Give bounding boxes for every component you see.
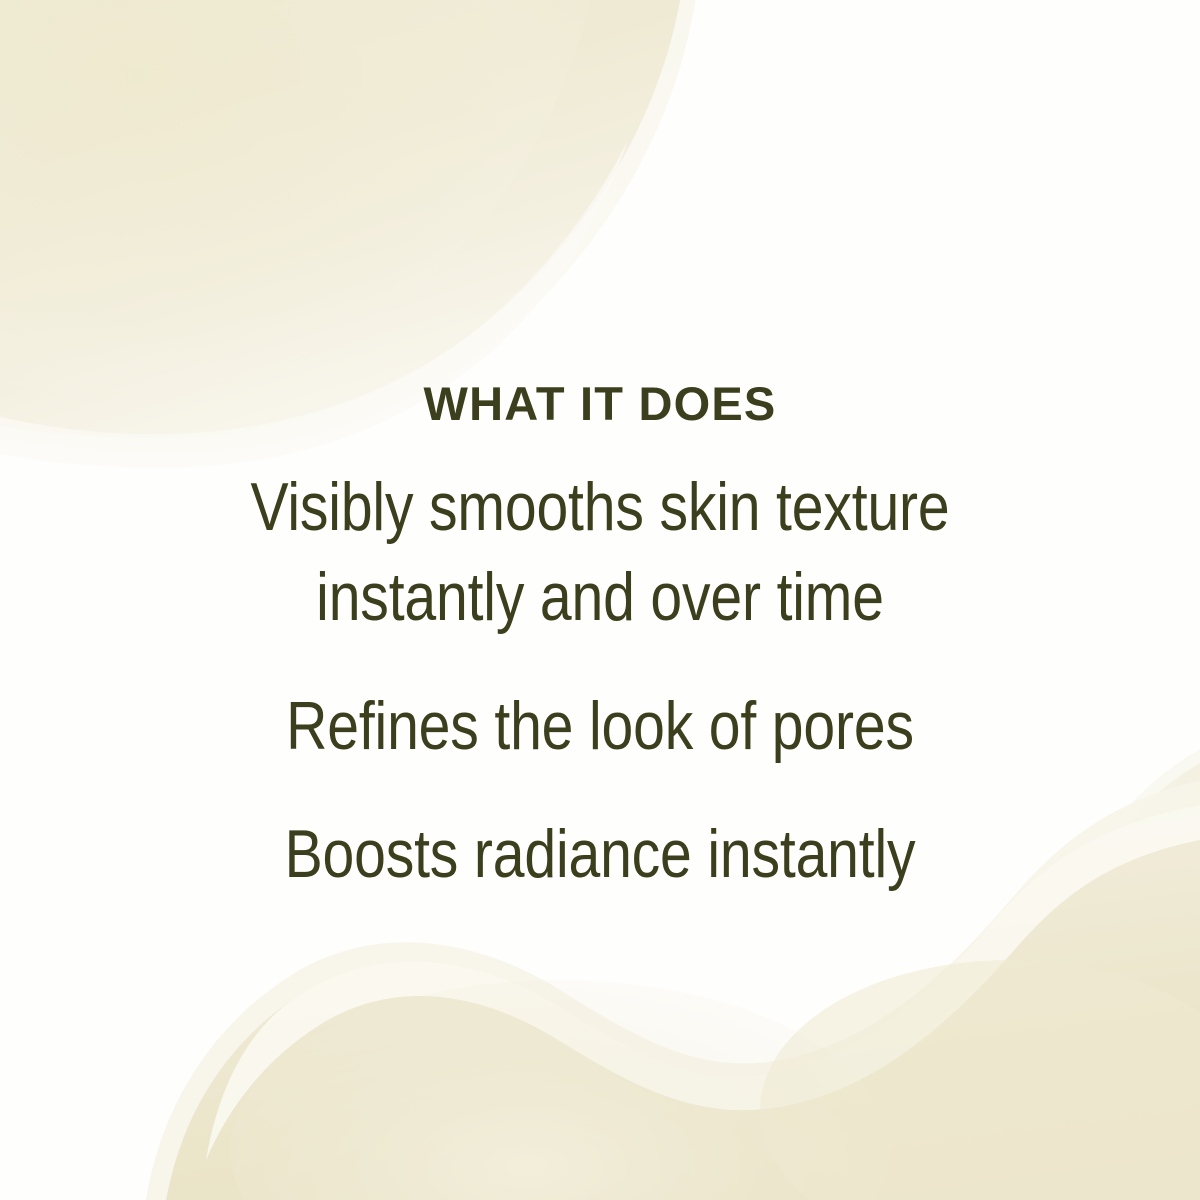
top-left-cream-blob [0,0,700,468]
list-item: Refines the look of pores [96,681,1104,771]
product-benefits-card: WHAT IT DOES Visibly smooths skin textur… [0,0,1200,1200]
list-item: Boosts radiance instantly [96,809,1104,899]
page-title: WHAT IT DOES [0,379,1200,428]
decorative-cream-blobs [0,0,1200,1200]
benefits-content: WHAT IT DOES Visibly smooths skin textur… [0,0,1200,1200]
list-item: Visibly smooths skin texture instantly a… [96,462,1104,643]
right-edge-cream-blob [1039,726,1200,1060]
bottom-cream-wave-blob [140,772,1200,1200]
benefit-list: Visibly smooths skin texture instantly a… [0,462,1200,900]
